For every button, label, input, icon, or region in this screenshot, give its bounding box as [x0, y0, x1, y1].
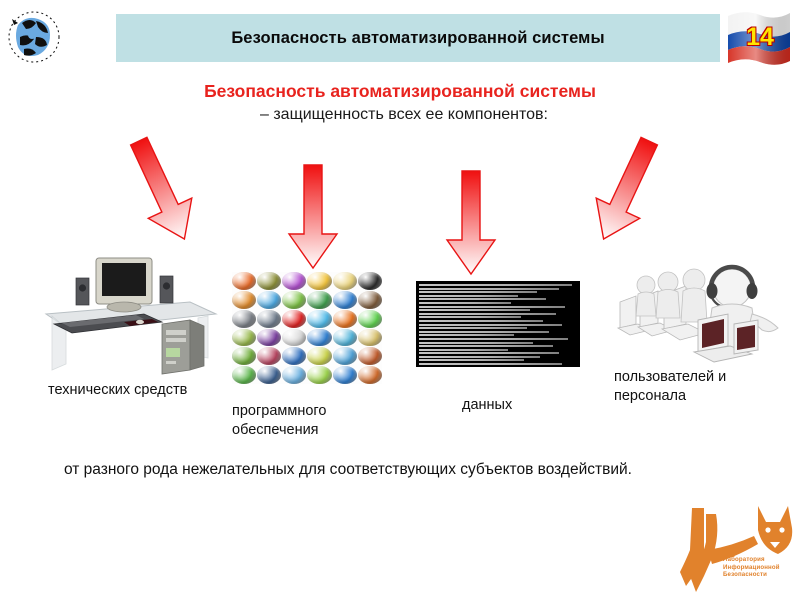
header-title-bar: Безопасность автоматизированной системы: [116, 14, 720, 62]
terminal-line: [419, 306, 565, 308]
caption-hardware: технических средств: [48, 381, 198, 400]
software-icon-26: [257, 347, 281, 365]
terminal-line: [419, 345, 553, 347]
software-icon-33: [282, 366, 306, 384]
software-icon-17: [333, 310, 357, 328]
caption-data: данных: [462, 396, 572, 415]
desktop-computer-on-desk-image: [40, 252, 220, 377]
slide-header: Безопасность автоматизированной системы …: [0, 0, 800, 78]
terminal-line: [419, 342, 533, 344]
arrow-to-hardware-icon: [122, 132, 202, 250]
terminal-line: [419, 324, 562, 326]
software-icon-18: [358, 310, 382, 328]
terminal-line: [419, 334, 514, 336]
software-icon-12: [358, 291, 382, 309]
institute-emblem-icon: [6, 7, 62, 67]
subtitle: – защищенность всех ее компонентов:: [0, 104, 800, 126]
software-icon-5: [333, 272, 357, 290]
terminal-line: [419, 320, 543, 322]
software-icons-grid-image: [232, 272, 382, 384]
terminal-line: [419, 359, 524, 361]
terminal-line: [419, 284, 572, 286]
software-icon-36: [358, 366, 382, 384]
fox-lab-logo-text: Лаборатория Информационной Безопасности: [723, 556, 780, 579]
software-icon-19: [232, 329, 256, 347]
terminal-line: [419, 291, 537, 293]
software-icon-15: [282, 310, 306, 328]
software-icon-29: [333, 347, 357, 365]
footer-paragraph: от разного рода нежелательных для соотве…: [36, 458, 760, 482]
terminal-line: [419, 338, 568, 340]
software-icon-25: [232, 347, 256, 365]
software-icon-24: [358, 329, 382, 347]
software-icon-9: [282, 291, 306, 309]
software-icon-10: [307, 291, 331, 309]
software-icon-23: [333, 329, 357, 347]
terminal-line: [419, 331, 549, 333]
terminal-line: [419, 313, 556, 315]
terminal-line: [419, 298, 546, 300]
arrow-to-software-icon: [282, 162, 344, 272]
software-icon-3: [282, 272, 306, 290]
arrow-to-data-icon: [440, 168, 502, 278]
terminal-line: [419, 295, 518, 297]
fox-logo-line-2: Информационной: [723, 564, 780, 572]
fox-logo-line-1: Лаборатория: [723, 556, 780, 564]
terminal-line: [419, 316, 521, 318]
software-icon-35: [333, 366, 357, 384]
software-icon-4: [307, 272, 331, 290]
software-icon-32: [257, 366, 281, 384]
software-icon-2: [257, 272, 281, 290]
terminal-line: [419, 356, 540, 358]
terminal-line: [419, 302, 511, 304]
software-icon-27: [282, 347, 306, 365]
users-with-headsets-image: [606, 258, 786, 366]
software-icon-28: [307, 347, 331, 365]
terminal-console-output-image: [416, 281, 580, 367]
fox-lab-logo-icon: [662, 502, 800, 600]
caption-software: программного обеспечения: [232, 402, 392, 440]
terminal-line: [419, 352, 559, 354]
software-icon-13: [232, 310, 256, 328]
fox-logo-line-3: Безопасности: [723, 571, 780, 579]
software-icon-7: [232, 291, 256, 309]
software-icon-11: [333, 291, 357, 309]
software-icon-8: [257, 291, 281, 309]
software-icon-1: [232, 272, 256, 290]
software-icon-6: [358, 272, 382, 290]
terminal-line: [419, 288, 559, 290]
software-icon-22: [307, 329, 331, 347]
software-icon-30: [358, 347, 382, 365]
software-icon-21: [282, 329, 306, 347]
arrow-to-users-icon: [586, 132, 666, 250]
software-icon-34: [307, 366, 331, 384]
software-icon-20: [257, 329, 281, 347]
terminal-line: [419, 327, 527, 329]
caption-users: пользователей и персонала: [614, 368, 794, 406]
software-icon-14: [257, 310, 281, 328]
terminal-line: [419, 363, 562, 365]
main-title: Безопасность автоматизированной системы: [0, 80, 800, 102]
software-icon-31: [232, 366, 256, 384]
software-icon-16: [307, 310, 331, 328]
terminal-line: [419, 349, 508, 351]
header-title: Безопасность автоматизированной системы: [231, 29, 604, 48]
terminal-line: [419, 309, 530, 311]
title-block: Безопасность автоматизированной системы …: [0, 80, 800, 126]
slide-number: 14: [724, 6, 794, 68]
